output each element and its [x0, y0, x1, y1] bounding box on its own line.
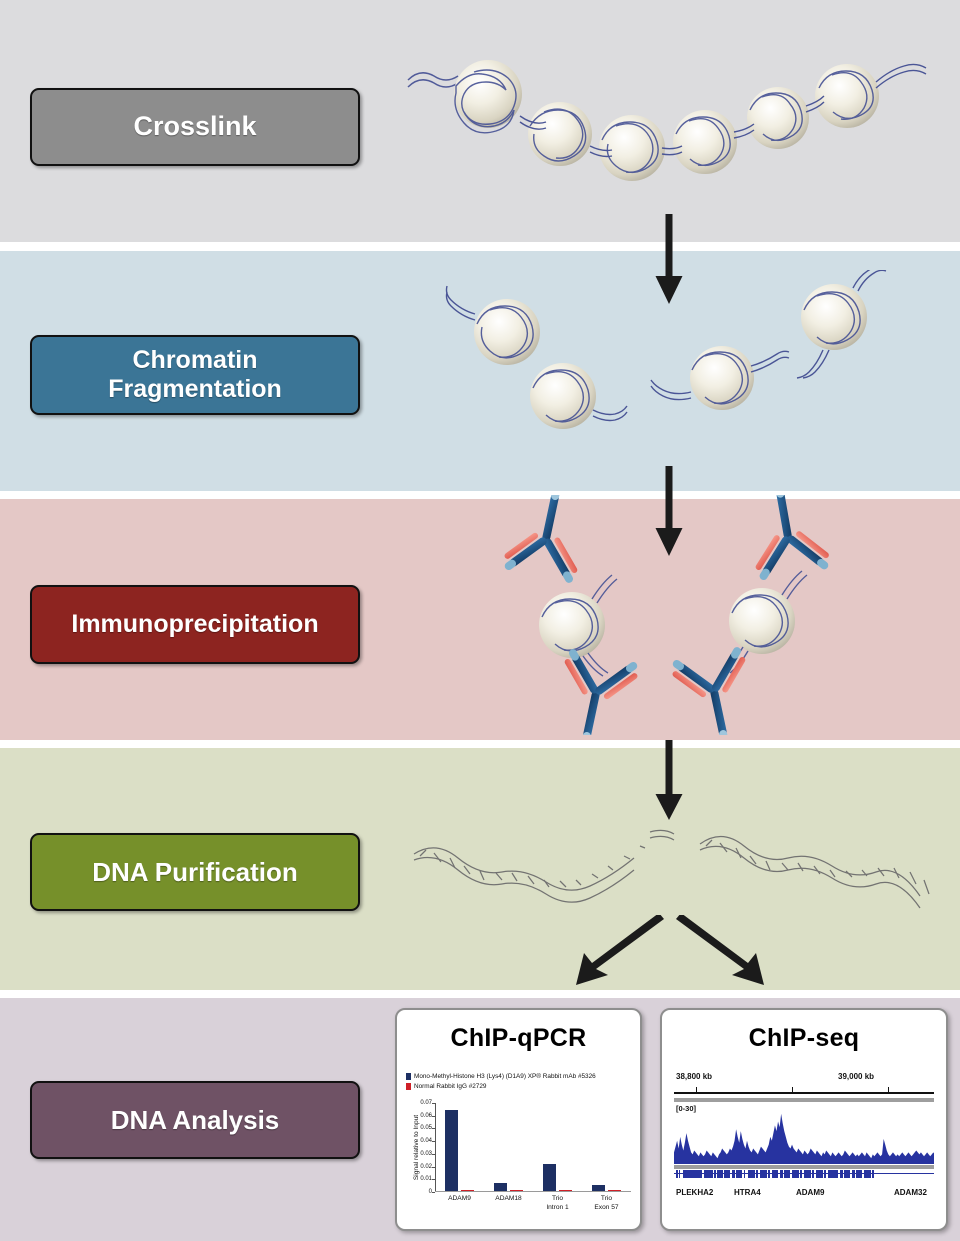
gene-exon-block [700, 1170, 702, 1178]
stage-box-dna-purification: DNA Purification [30, 833, 360, 911]
chip-qpcr-title: ChIP-qPCR [397, 1024, 640, 1053]
qpcr-y-tick-label: 0.07 [420, 1100, 432, 1106]
gene-exon-block [788, 1170, 790, 1178]
arrow-down-immunoprecipitation-to-purification [652, 740, 686, 820]
qpcr-y-tick-label: 0.03 [420, 1151, 432, 1157]
qpcr-y-tick-mark [432, 1128, 435, 1129]
gene-exon-block [848, 1170, 850, 1178]
stage-label-immunoprecipitation: Immunoprecipitation [71, 610, 318, 640]
stage-label-dna-purification: DNA Purification [92, 857, 298, 888]
chip-seq-coordinate-left: 38,800 kb [676, 1072, 712, 1081]
qpcr-legend: Mono-Methyl-Histone H3 (Lys4) (D1A9) XP®… [406, 1072, 596, 1092]
gene-exon-block [860, 1170, 862, 1178]
qpcr-y-tick-label: 0.04 [420, 1138, 432, 1144]
stage-box-crosslink: Crosslink [30, 88, 360, 166]
qpcr-bar [445, 1110, 458, 1190]
qpcr-bar [559, 1190, 572, 1191]
stage-label-crosslink: Crosslink [133, 111, 256, 143]
qpcr-y-tick-mark [432, 1154, 435, 1155]
qpcr-x-tick-label: ADAM9 [448, 1195, 471, 1204]
qpcr-bar [608, 1190, 621, 1191]
purified-dna-illustration [400, 820, 960, 920]
qpcr-bar [510, 1190, 523, 1191]
gene-exon-block [836, 1170, 838, 1178]
qpcr-bar [592, 1185, 605, 1190]
stage-box-immunoprecipitation: Immunoprecipitation [30, 585, 360, 664]
gene-exon-block [764, 1170, 767, 1178]
gene-label-adam9: ADAM9 [796, 1188, 824, 1197]
gene-exon-block [740, 1170, 742, 1178]
legend-swatch-navy [406, 1073, 411, 1080]
qpcr-x-tick-label: TrioExon 57 [594, 1195, 618, 1213]
chip-seq-gene-track [674, 1173, 934, 1174]
chip-seq-range-label: [0-30] [676, 1104, 696, 1113]
qpcr-y-tick-label: 0.01 [420, 1176, 432, 1182]
antibody-nucleosome-illustration [500, 495, 840, 735]
qpcr-y-tick-mark [432, 1179, 435, 1180]
chip-seq-title: ChIP-seq [662, 1024, 946, 1053]
legend-label-igg: Normal Rabbit IgG #2729 [414, 1082, 486, 1092]
chip-seq-signal-svg [674, 1106, 934, 1164]
chip-seq-coordinate-right: 39,000 kb [838, 1072, 874, 1081]
qpcr-x-tick-label: ADAM18 [495, 1195, 521, 1204]
chip-seq-signal-track [674, 1106, 934, 1164]
chip-seq-divider-bottom [674, 1165, 934, 1169]
gene-exon-block [756, 1170, 758, 1178]
qpcr-y-tick-mark [432, 1116, 435, 1117]
gene-exon-block [800, 1170, 802, 1178]
stage-box-chromatin-fragmentation: ChromatinFragmentation [30, 335, 360, 415]
gene-label-htra4: HTRA4 [734, 1188, 761, 1197]
chip-qpcr-panel: ChIP-qPCR Mono-Methyl-Histone H3 (Lys4) … [395, 1008, 642, 1231]
qpcr-bar [461, 1190, 474, 1191]
ruler-tick-1 [696, 1087, 697, 1092]
qpcr-y-tick-mark [432, 1167, 435, 1168]
gene-exon-block [808, 1170, 811, 1178]
arrow-diagonal-to-qpcr [560, 915, 670, 990]
qpcr-y-tick-label: 0.06 [420, 1113, 432, 1119]
gene-exon-block [728, 1170, 730, 1178]
stage-label-dna-analysis: DNA Analysis [111, 1105, 280, 1136]
stage-box-dna-analysis: DNA Analysis [30, 1081, 360, 1159]
chip-seq-ruler [674, 1092, 934, 1094]
qpcr-x-axis [435, 1191, 631, 1193]
qpcr-x-tick-label: TrioIntron 1 [546, 1195, 568, 1213]
gene-exon-block [679, 1170, 680, 1178]
gene-exon-block [796, 1170, 799, 1178]
gene-exon-block [840, 1170, 843, 1178]
qpcr-y-tick-mark [432, 1141, 435, 1142]
chip-seq-signal-area [674, 1114, 934, 1164]
chip-seq-divider-top [674, 1098, 934, 1102]
legend-swatch-red [406, 1083, 411, 1090]
gene-label-plekha2: PLEKHA2 [676, 1188, 713, 1197]
legend-entry-igg: Normal Rabbit IgG #2729 [406, 1082, 596, 1092]
gene-exon-block [744, 1170, 745, 1178]
gene-exon-block [776, 1170, 778, 1178]
gene-exon-block [710, 1170, 713, 1178]
qpcr-y-tick-label: 0.05 [420, 1125, 432, 1131]
stage-label-chromatin-fragmentation: ChromatinFragmentation [108, 346, 282, 405]
gene-exon-block [720, 1170, 723, 1178]
qpcr-y-tick-mark [432, 1103, 435, 1104]
qpcr-bar [494, 1183, 507, 1191]
qpcr-y-axis [435, 1103, 436, 1192]
nucleosome-chain-illustration [400, 30, 940, 190]
fragmented-chromatin-illustration [435, 270, 905, 460]
chip-seq-panel: ChIP-seq 38,800 kb 39,000 kb [0-30] PLEK… [660, 1008, 948, 1231]
gene-exon-block [868, 1170, 871, 1178]
gene-exon-block [732, 1170, 735, 1178]
arrow-diagonal-to-chipseq [670, 915, 780, 990]
legend-entry-mono-methyl: Mono-Methyl-Histone H3 (Lys4) (D1A9) XP®… [406, 1072, 596, 1082]
legend-label-mono-methyl: Mono-Methyl-Histone H3 (Lys4) (D1A9) XP®… [414, 1072, 596, 1082]
qpcr-plot-area: 00.010.020.030.040.050.060.07ADAM9ADAM18… [435, 1103, 631, 1192]
gene-exon-block [768, 1170, 770, 1178]
gene-exon-block [714, 1170, 716, 1178]
gene-exon-block [824, 1170, 826, 1178]
ruler-tick-3 [888, 1087, 889, 1092]
qpcr-y-tick-label: 0.02 [420, 1164, 432, 1170]
qpcr-bar [543, 1164, 556, 1191]
gene-exon-block [780, 1170, 783, 1178]
qpcr-y-tick-mark [432, 1192, 435, 1193]
gene-exon-block [872, 1170, 874, 1178]
gene-exon-block [676, 1170, 678, 1178]
gene-exon-block [812, 1170, 814, 1178]
gene-exon-block [820, 1170, 823, 1178]
gene-exon-block [852, 1170, 855, 1178]
gene-exon-block [752, 1170, 755, 1178]
ruler-tick-2 [792, 1087, 793, 1092]
gene-label-adam32: ADAM32 [894, 1188, 927, 1197]
